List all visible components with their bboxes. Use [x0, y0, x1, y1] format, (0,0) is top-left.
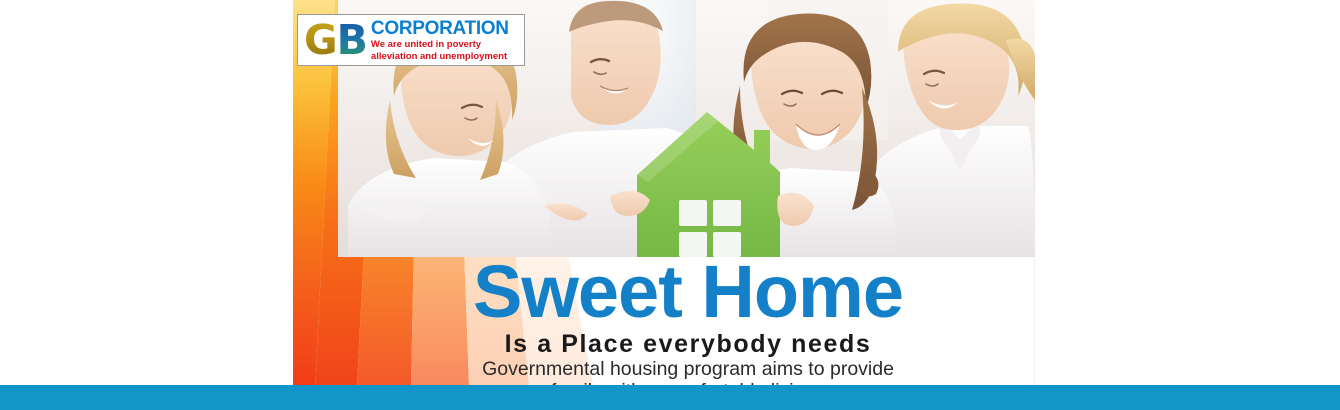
banner-body-line1: Governmental housing program aims to pro…: [338, 358, 1038, 380]
banner-copy: Sweet Home Is a Place everybody needs Go…: [338, 256, 1038, 385]
logo-letter-g: G: [304, 16, 337, 64]
page-title: Sweet Home: [338, 256, 1038, 328]
banner-subhead: Is a Place everybody needs: [338, 330, 1038, 358]
bottom-blue-bar: [0, 385, 1340, 410]
logo-tagline-line2: alleviation and unemployment: [371, 51, 520, 62]
logo-monogram: GB: [304, 20, 367, 60]
logo-letter-b: B: [337, 16, 367, 64]
logo-wordmark: CORPORATION We are united in poverty all…: [371, 19, 520, 62]
banner-stage: GB CORPORATION We are united in poverty …: [0, 0, 1340, 385]
sweet-home-banner: GB CORPORATION We are united in poverty …: [0, 0, 1340, 410]
gb-corporation-logo: GB CORPORATION We are united in poverty …: [297, 14, 525, 66]
logo-tagline-line1: We are united in poverty: [371, 39, 520, 50]
logo-company-name: CORPORATION: [371, 19, 520, 38]
banner-body-line2: every family with a comfortable living s…: [338, 380, 1038, 385]
